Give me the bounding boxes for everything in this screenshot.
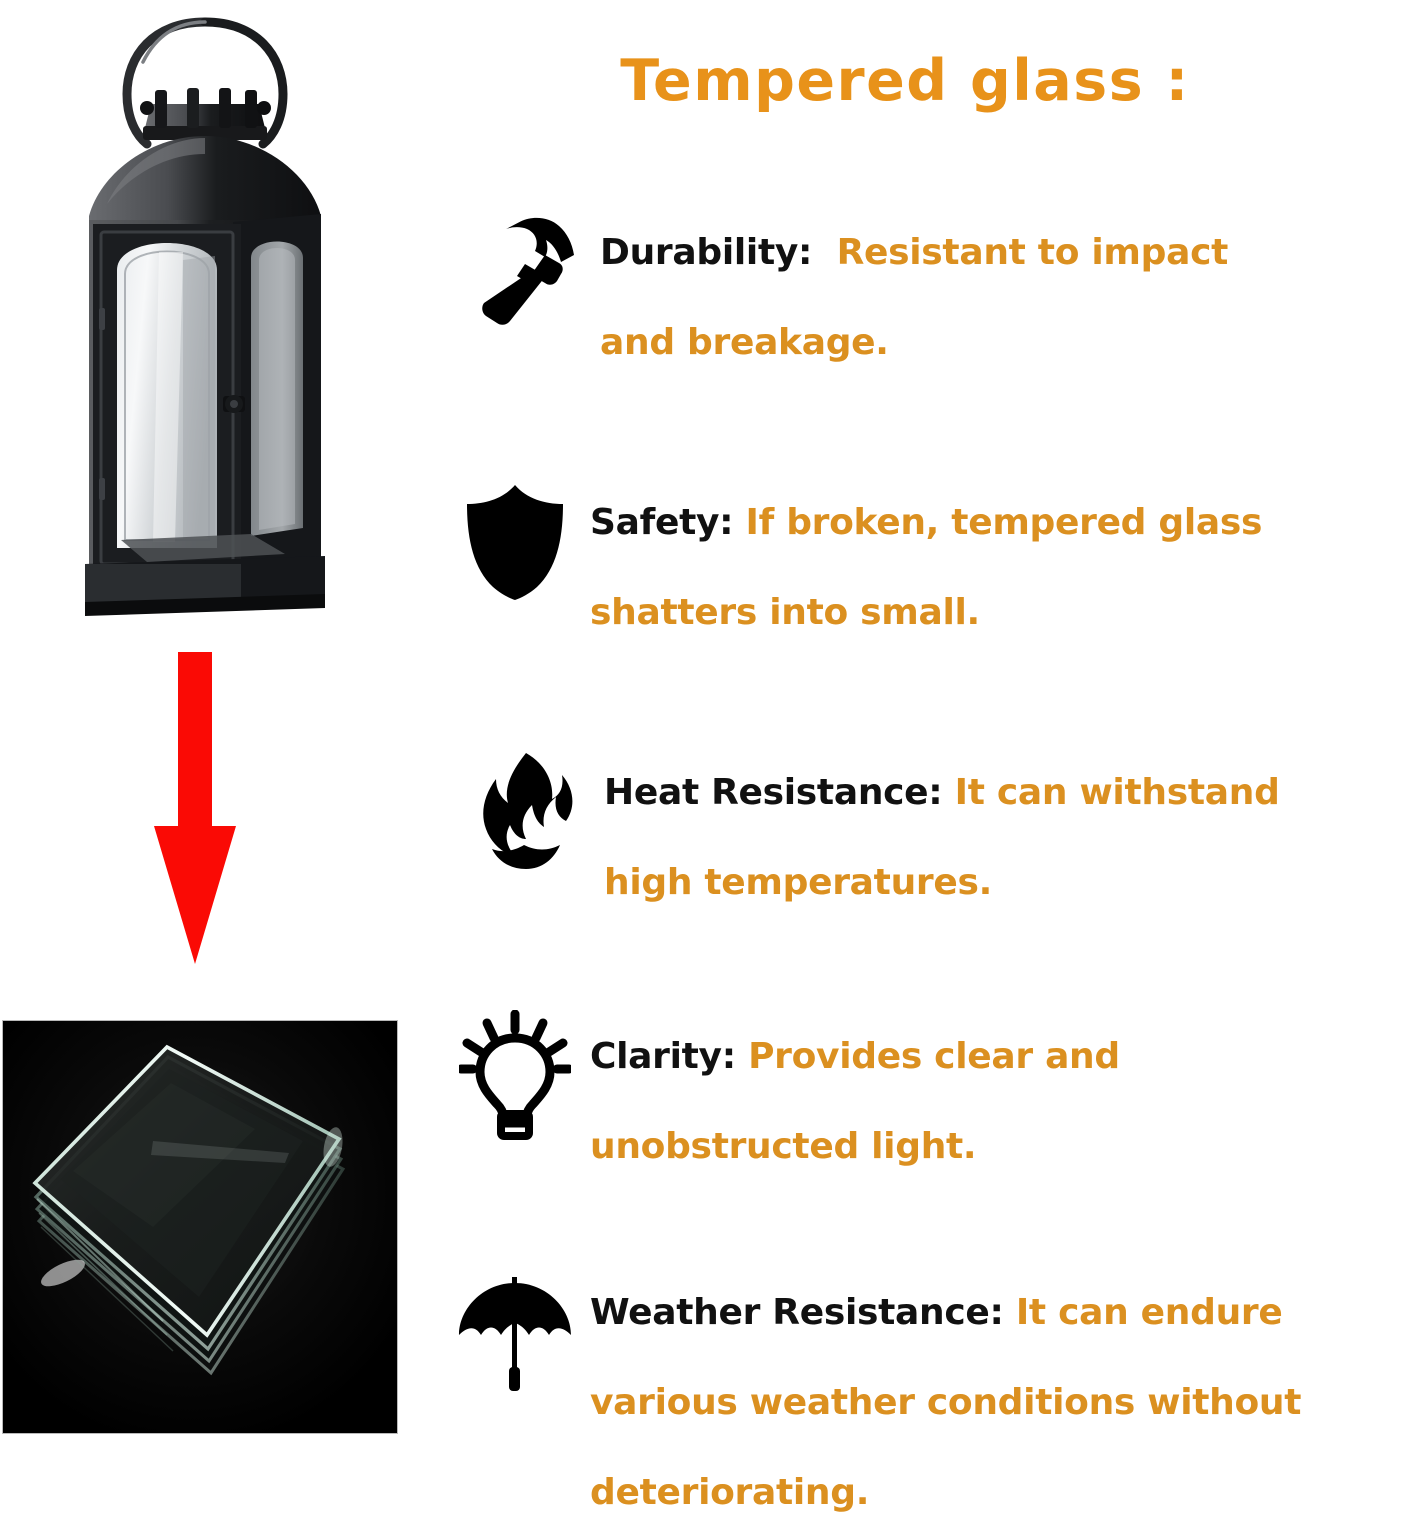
feature-label-durability: Durability: xyxy=(600,232,812,273)
feature-row-clarity: Clarity: Provides clear and unobstructed… xyxy=(440,1000,1416,1192)
feature-line-3: deteriorating. xyxy=(590,1448,1416,1538)
feature-line-1: Resistant to impact xyxy=(837,232,1228,273)
feature-line-2: shatters into small. xyxy=(590,568,1416,658)
feature-row-durability: Durability: Resistant to impact and brea… xyxy=(440,196,1416,388)
feature-line-1: It can withstand xyxy=(955,772,1280,813)
page-title: Tempered glass : xyxy=(440,48,1370,114)
feature-line-1: If broken, tempered glass xyxy=(746,502,1263,543)
feature-line-2: high temperatures. xyxy=(604,838,1416,928)
feature-text-safety: Safety: If broken, tempered glass shatte… xyxy=(590,466,1416,658)
feature-text-weather-resistance: Weather Resistance: It can endure variou… xyxy=(590,1256,1416,1538)
feature-line-2: and breakage. xyxy=(600,298,1416,388)
flame-icon xyxy=(440,736,604,886)
feature-label-weather-resistance: Weather Resistance: xyxy=(590,1292,1004,1333)
feature-label-heat-resistance: Heat Resistance: xyxy=(604,772,942,813)
feature-text-heat-resistance: Heat Resistance: It can withstand high t… xyxy=(604,736,1416,928)
lantern-product-photo xyxy=(55,8,355,638)
features-column: Tempered glass : Durability: Resistant t… xyxy=(440,0,1416,1500)
tempered-glass-photo xyxy=(2,1020,398,1434)
feature-text-durability: Durability: Resistant to impact and brea… xyxy=(600,196,1416,388)
feature-line-2: unobstructed light. xyxy=(590,1102,1416,1192)
feature-text-clarity: Clarity: Provides clear and unobstructed… xyxy=(590,1000,1416,1192)
umbrella-icon xyxy=(440,1256,590,1406)
hammer-icon xyxy=(440,196,600,346)
feature-label-safety: Safety: xyxy=(590,502,733,543)
left-media-column xyxy=(0,0,440,1500)
feature-row-weather-resistance: Weather Resistance: It can endure variou… xyxy=(440,1256,1416,1538)
feature-line-2: various weather conditions without xyxy=(590,1358,1416,1448)
shield-icon xyxy=(440,466,590,616)
feature-row-heat-resistance: Heat Resistance: It can withstand high t… xyxy=(440,736,1416,928)
feature-row-safety: Safety: If broken, tempered glass shatte… xyxy=(440,466,1416,658)
arrow-down-icon xyxy=(140,648,250,968)
feature-label-clarity: Clarity: xyxy=(590,1036,736,1077)
lightbulb-icon xyxy=(440,1000,590,1150)
feature-line-1: It can endure xyxy=(1016,1292,1283,1333)
feature-line-1: Provides clear and xyxy=(748,1036,1120,1077)
